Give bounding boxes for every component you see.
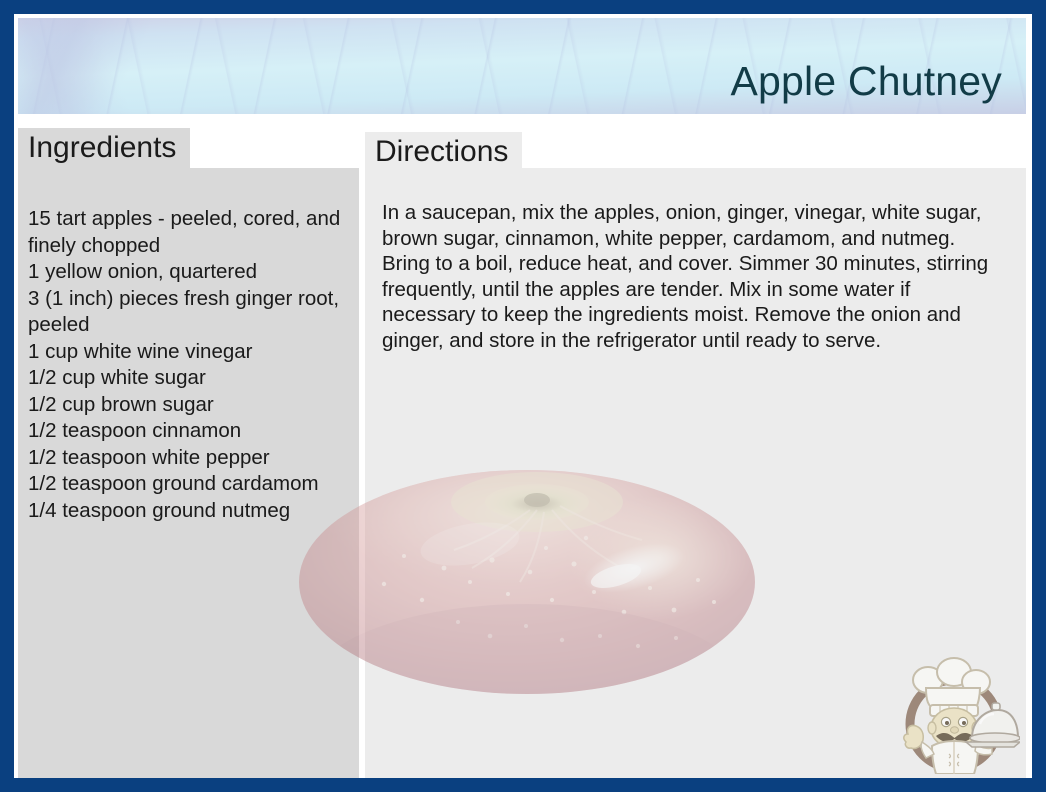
list-item: 1/2 cup brown sugar [28, 392, 353, 419]
header-banner: Apple Chutney [18, 18, 1026, 114]
list-item: 1 cup white wine vinegar [28, 339, 353, 366]
chef-logo-icon [892, 650, 1020, 774]
list-item: 1/2 teaspoon ground cardamom [28, 471, 353, 498]
list-item: 1/2 teaspoon white pepper [28, 445, 353, 472]
list-item: 15 tart apples - peeled, cored, and fine… [28, 206, 353, 259]
list-item: 1/2 teaspoon cinnamon [28, 418, 353, 445]
ingredients-panel: Ingredients 15 tart apples - peeled, cor… [18, 128, 359, 778]
list-item: 1 yellow onion, quartered [28, 259, 353, 286]
ingredients-list: 15 tart apples - peeled, cored, and fine… [28, 206, 353, 524]
recipe-card: Apple Chutney Ingredients 15 tart apples… [0, 0, 1046, 792]
content-area: Ingredients 15 tart apples - peeled, cor… [18, 128, 1026, 778]
directions-text: In a saucepan, mix the apples, onion, gi… [382, 200, 1004, 353]
directions-heading: Directions [365, 132, 522, 172]
page-title: Apple Chutney [730, 61, 1002, 102]
list-item: 1/4 teaspoon ground nutmeg [28, 498, 353, 525]
ingredients-heading: Ingredients [18, 128, 190, 168]
list-item: 3 (1 inch) pieces fresh ginger root, pee… [28, 286, 353, 339]
list-item: 1/2 cup white sugar [28, 365, 353, 392]
